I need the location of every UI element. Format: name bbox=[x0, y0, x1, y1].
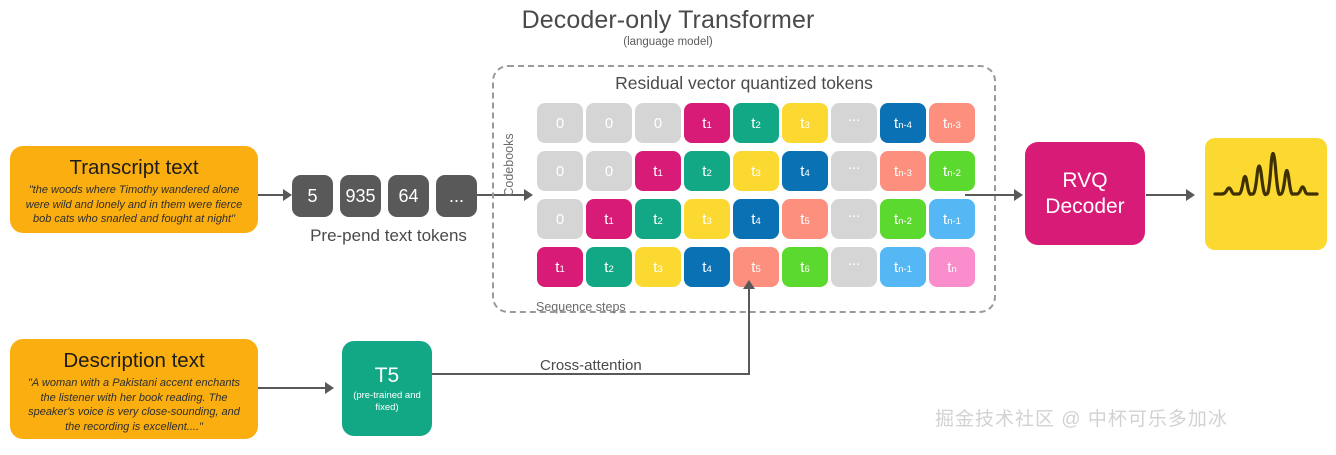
diagram-canvas: Decoder-only Transformer (language model… bbox=[0, 0, 1336, 455]
description-title: Description text bbox=[18, 349, 250, 373]
token-cell: t1 bbox=[635, 151, 681, 191]
rvq-decoder-box: RVQ Decoder bbox=[1025, 142, 1145, 245]
token-cell: tn-3 bbox=[880, 151, 926, 191]
sequence-steps-axis-label: Sequence steps bbox=[536, 300, 626, 314]
token-cell: tn bbox=[929, 247, 975, 287]
token-cell: t5 bbox=[782, 199, 828, 239]
token-cell: ... bbox=[831, 199, 877, 239]
audio-output-card bbox=[1205, 138, 1327, 250]
transcript-text-card: Transcript text "the woods where Timothy… bbox=[10, 146, 258, 233]
token-cell: 0 bbox=[586, 151, 632, 191]
arrow-transcript-to-tokens-head bbox=[283, 189, 292, 201]
token-cell: tn-1 bbox=[880, 247, 926, 287]
cross-attention-vertical-line bbox=[748, 288, 750, 374]
page-title: Decoder-only Transformer bbox=[0, 6, 1336, 35]
prepend-token: 64 bbox=[388, 175, 429, 217]
arrow-grid-to-decoder-line bbox=[965, 194, 1017, 196]
token-cell: t2 bbox=[586, 247, 632, 287]
page-subtitle: (language model) bbox=[0, 36, 1336, 48]
token-cell: t4 bbox=[782, 151, 828, 191]
token-cell: tn-1 bbox=[929, 199, 975, 239]
token-cell: t1 bbox=[684, 103, 730, 143]
prepend-tokens-label: Pre-pend text tokens bbox=[292, 226, 485, 246]
token-cell: 0 bbox=[635, 103, 681, 143]
token-cell: t5 bbox=[733, 247, 779, 287]
token-cell: t2 bbox=[733, 103, 779, 143]
token-cell: t3 bbox=[684, 199, 730, 239]
token-cell: 0 bbox=[586, 103, 632, 143]
token-cell: tn-2 bbox=[880, 199, 926, 239]
token-cell: 0 bbox=[537, 199, 583, 239]
prepend-token: 5 bbox=[292, 175, 333, 217]
transcript-title: Transcript text bbox=[18, 156, 250, 180]
token-cell: t2 bbox=[684, 151, 730, 191]
token-cell: t4 bbox=[733, 199, 779, 239]
t5-note: (pre-trained and fixed) bbox=[342, 390, 432, 413]
token-cell: ... bbox=[831, 151, 877, 191]
token-cell: 0 bbox=[537, 103, 583, 143]
watermark-text: 掘金技术社区 @ 中杯可乐多加冰 bbox=[935, 404, 1228, 431]
token-cell: tn-2 bbox=[929, 151, 975, 191]
token-cell: t1 bbox=[586, 199, 632, 239]
prepend-text-tokens-group: 593564... Pre-pend text tokens bbox=[292, 175, 485, 246]
arrow-grid-to-decoder-head bbox=[1014, 189, 1023, 201]
token-cell: ... bbox=[831, 103, 877, 143]
arrow-transcript-to-tokens-line bbox=[258, 194, 284, 196]
token-grid: 000t1t2t3...tn-4tn-300t1t2t3t4...tn-3tn-… bbox=[537, 103, 975, 287]
prepend-token: ... bbox=[436, 175, 477, 217]
cross-attention-arrow-head bbox=[743, 280, 755, 289]
token-cell: ... bbox=[831, 247, 877, 287]
token-cell: t3 bbox=[782, 103, 828, 143]
arrow-description-to-t5-line bbox=[258, 387, 326, 389]
description-text-card: Description text "A woman with a Pakista… bbox=[10, 339, 258, 439]
cross-attention-label: Cross-attention bbox=[540, 357, 642, 374]
token-cell: 0 bbox=[537, 151, 583, 191]
token-cell: t3 bbox=[635, 247, 681, 287]
token-cell: t1 bbox=[537, 247, 583, 287]
t5-encoder-box: T5 (pre-trained and fixed) bbox=[342, 341, 432, 436]
arrow-decoder-to-waveform-head bbox=[1186, 189, 1195, 201]
rvq-decoder-line1: RVQ bbox=[1062, 168, 1107, 194]
token-cell: tn-4 bbox=[880, 103, 926, 143]
audio-waveform-icon bbox=[1212, 148, 1320, 240]
description-body: "A woman with a Pakistani accent enchant… bbox=[18, 376, 250, 434]
arrow-description-to-t5-head bbox=[325, 382, 334, 394]
codebooks-axis-label: Codebooks bbox=[502, 110, 516, 220]
prepend-token: 935 bbox=[340, 175, 381, 217]
token-cell: t4 bbox=[684, 247, 730, 287]
arrow-decoder-to-waveform-line bbox=[1146, 194, 1188, 196]
t5-name: T5 bbox=[375, 364, 400, 388]
token-cell: tn-3 bbox=[929, 103, 975, 143]
token-cell: t2 bbox=[635, 199, 681, 239]
rvq-decoder-line2: Decoder bbox=[1045, 194, 1124, 220]
token-cell: t6 bbox=[782, 247, 828, 287]
transcript-body: "the woods where Timothy wandered alone … bbox=[18, 183, 250, 227]
rvq-title: Residual vector quantized tokens bbox=[492, 73, 996, 94]
prepend-token-row: 593564... bbox=[292, 175, 485, 217]
token-cell: t3 bbox=[733, 151, 779, 191]
